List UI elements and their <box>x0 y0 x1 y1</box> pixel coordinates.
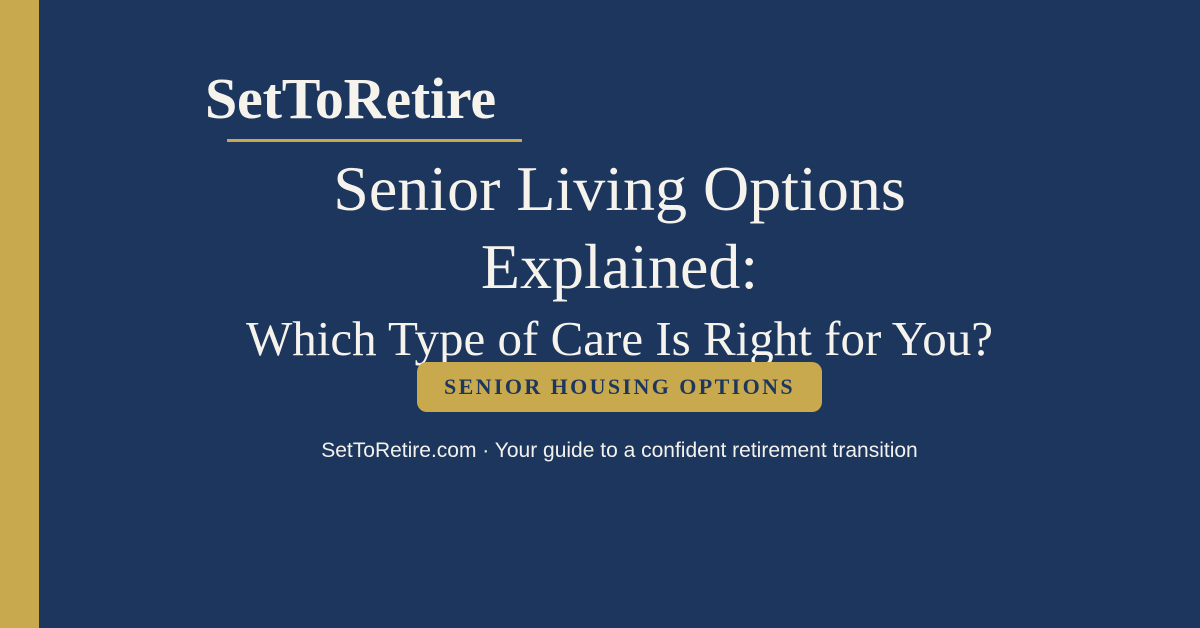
headline-block: Senior Living Options Explained: Which T… <box>39 150 1200 372</box>
brand-lockup: SetToRetire <box>205 68 585 142</box>
brand-name: SetToRetire <box>205 68 585 130</box>
footer-tagline: SetToRetire.com · Your guide to a confid… <box>39 437 1200 465</box>
category-badge: SENIOR HOUSING OPTIONS <box>417 362 822 412</box>
headline-line-2: Explained: <box>39 228 1200 306</box>
social-share-card: SetToRetire Senior Living Options Explai… <box>0 0 1200 628</box>
card-content: SetToRetire Senior Living Options Explai… <box>39 0 1200 628</box>
badge-row: SENIOR HOUSING OPTIONS <box>39 362 1200 412</box>
brand-underline-rule <box>227 139 522 142</box>
left-gold-accent-bar <box>0 0 39 628</box>
headline-line-1: Senior Living Options <box>39 150 1200 228</box>
